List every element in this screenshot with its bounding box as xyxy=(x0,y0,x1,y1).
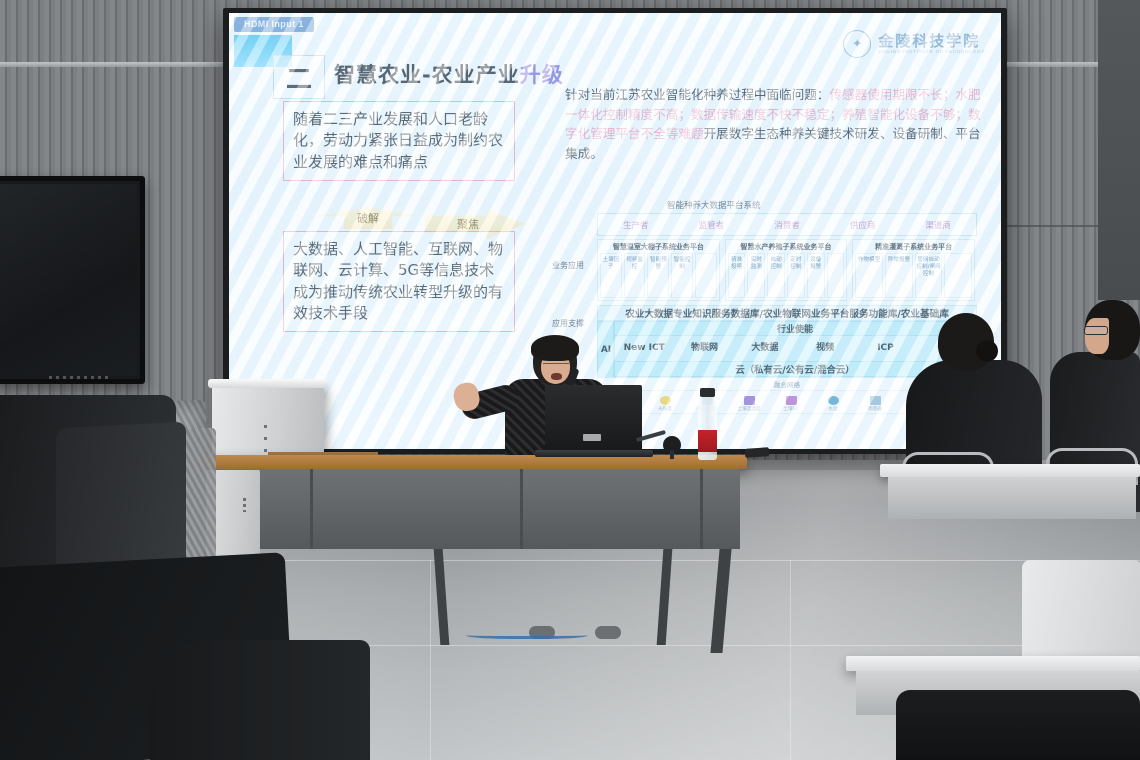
floor-tile-seam xyxy=(790,560,791,760)
stakeholder: 供应商 xyxy=(825,219,901,231)
subplatform-item: 视频监控 xyxy=(624,253,646,298)
rain-gauge-icon xyxy=(870,396,881,405)
student-desk-front xyxy=(888,477,1136,519)
subplatform-item: 实时监测 xyxy=(747,253,765,298)
insight-box-2: 大数据、人工智能、互联网、物联网、云计算、5G等信息技术成为推动传统农业转型升级… xyxy=(283,231,515,332)
foreground-chair xyxy=(896,690,1140,760)
subplatform-title: 智慧温室大棚子系统业务平台 xyxy=(598,240,719,253)
subplatform-item: 定时控制 xyxy=(787,253,805,298)
arrow-up-label: 破解 xyxy=(313,207,423,229)
presentation-slide[interactable]: HDMI Input 1 二 智慧农业-农业产业升级 ✦ 金陵科技学院 JINL… xyxy=(229,13,1001,449)
soil-probe-icon xyxy=(744,396,755,405)
desk-panel-seam xyxy=(520,469,523,549)
classroom-scene: HDMI Input 1 二 智慧农业-农业产业升级 ✦ 金陵科技学院 JINL… xyxy=(0,0,1140,760)
subplatform-item xyxy=(944,253,972,298)
logo-name-en: JINLING INSTITUTE OF TECHNOLOGY xyxy=(878,50,985,55)
sensor-item: 水位 xyxy=(812,396,854,412)
presenter-glasses xyxy=(543,363,569,370)
sensor-label: 土壤EC xyxy=(783,407,798,412)
sensor-label: 水位 xyxy=(828,407,837,412)
university-crest-icon: ✦ xyxy=(843,30,871,58)
slide-title: 智慧农业-农业产业升级 xyxy=(334,59,564,89)
section-number: 二 xyxy=(273,55,325,99)
stakeholder: 渠道商 xyxy=(900,219,976,231)
presenter-mouth xyxy=(551,373,562,380)
subplatform-item xyxy=(695,253,717,298)
layer-label-support: 应用支撑 xyxy=(543,319,593,329)
subplatform-item: 精准投喂 xyxy=(728,253,746,298)
diagram-title: 智能种养大数据平台系统 xyxy=(667,199,761,211)
floor-tile-seam xyxy=(430,560,431,760)
wall-trim-left xyxy=(0,62,232,67)
laptop-base[interactable] xyxy=(535,450,653,457)
student-hair-tie xyxy=(976,340,998,362)
subplatform-greenhouse: 智慧温室大棚子系统业务平台 土壤因子 视频监控 智能预警 智能控制 xyxy=(597,239,720,301)
wall-mounted-display[interactable] xyxy=(0,176,145,384)
sensor-item: 土壤温湿度 xyxy=(728,396,770,412)
ec-probe-icon xyxy=(786,396,797,405)
laptop-logo xyxy=(583,434,601,441)
slide-title-main: 智慧农业-农业产业 xyxy=(334,63,520,87)
subplatform-irrigation: 精准灌溉子系统业务平台 作物模型 异常报警 管网自动控制/闸阀控制 xyxy=(852,239,975,301)
subplatform-item: 自动控制 xyxy=(767,253,785,298)
sensor-item: 雨量器 xyxy=(854,396,896,412)
subplatform-item: 土壤因子 xyxy=(600,253,622,298)
foreground-chair-arm xyxy=(150,640,370,760)
presenter-shoe xyxy=(595,626,621,639)
subplatform-item: 智能控制 xyxy=(671,253,693,298)
technology-row: New ICT 物联网 大数据 视频 ICP GIS xyxy=(613,335,977,362)
subplatform-item: 作物模型 xyxy=(855,253,883,298)
laptop-screen[interactable] xyxy=(545,385,642,452)
layer-label-business: 业务应用 xyxy=(543,261,593,271)
slide-title-highlight: 升级 xyxy=(520,63,564,87)
subplatform-title: 智慧水产养殖子系统业务平台 xyxy=(726,240,847,253)
sensor-label: 光照度 xyxy=(658,407,672,412)
tech-item: 大数据 xyxy=(735,344,795,353)
floor-cable xyxy=(466,630,588,639)
student-desk-top xyxy=(880,464,1140,477)
desk-microphone-stem xyxy=(670,450,674,459)
university-logo: ✦ 金陵科技学院 JINLING INSTITUTE OF TECHNOLOGY xyxy=(843,30,985,58)
bottle-label xyxy=(698,430,717,452)
paragraph-lead: 针对当前江苏农业智能化种养过程中面临问题： xyxy=(565,87,829,102)
stakeholder: 监管者 xyxy=(674,219,750,231)
display-screen xyxy=(0,184,137,376)
subplatform-item: 智能预警 xyxy=(647,253,669,298)
stakeholder: 生产者 xyxy=(598,219,674,231)
subplatform-title: 精准灌溉子系统业务平台 xyxy=(853,240,974,253)
hdmi-input-badge: HDMI Input 1 xyxy=(234,17,314,32)
tech-item: 物联网 xyxy=(674,344,734,353)
subplatform-aquaculture: 智慧水产养殖子系统业务平台 精准投喂 实时监测 自动控制 定时控制 设备报警 xyxy=(725,239,848,301)
lectern-top xyxy=(208,379,328,388)
panel-vent xyxy=(243,498,246,512)
stakeholder-row: 生产者 监管者 消费者 供应商 渠道商 xyxy=(597,213,977,236)
student-face xyxy=(1085,318,1109,354)
desk-panel-seam xyxy=(310,469,313,549)
teacher-desk-top xyxy=(165,455,747,469)
desk-panel-seam xyxy=(700,469,703,549)
subplatform-item: 管网自动控制/闸阀控制 xyxy=(915,253,943,298)
subplatform-row: 智慧温室大棚子系统业务平台 土壤因子 视频监控 智能预警 智能控制 智慧水产养殖… xyxy=(597,239,975,301)
tech-item: New ICT xyxy=(614,344,674,353)
tech-item: 视频 xyxy=(795,344,855,353)
student-glasses xyxy=(1084,326,1108,335)
logo-name-cn: 金陵科技学院 xyxy=(878,34,985,50)
sun-icon xyxy=(660,396,671,405)
smartphone[interactable] xyxy=(745,447,770,458)
bottle-cap xyxy=(700,388,715,397)
stakeholder: 消费者 xyxy=(749,219,825,231)
subplatform-item: 异常报警 xyxy=(885,253,913,298)
display-indicator-leds xyxy=(49,376,109,379)
water-level-icon xyxy=(828,396,839,405)
problem-paragraph: 针对当前江苏农业智能化种养过程中面临问题：传感器使用期限不长；水肥一体化控制精度… xyxy=(565,85,989,163)
database-bar: 农业大数据专业知识服务数据库/农业物联网业务平台服务功能库/农业基础库 xyxy=(597,305,977,321)
industry-enablement-bar: 行业使能 xyxy=(613,321,977,336)
subplatform-item: 设备报警 xyxy=(807,253,825,298)
student-desk-top xyxy=(846,656,1140,671)
wall-corner-right xyxy=(1098,0,1140,300)
sensor-item: 光照度 xyxy=(644,396,686,412)
tech-item: ICP xyxy=(855,344,915,353)
sensor-label: 雨量器 xyxy=(868,407,882,412)
sensor-item: 土壤EC xyxy=(770,396,812,412)
presenter-hair xyxy=(531,335,579,361)
sensor-label: 土壤温湿度 xyxy=(738,407,761,412)
insight-box-1: 随着二三产业发展和人口老龄化，劳动力紧张日益成为制约农业发展的难点和痛点 xyxy=(283,101,515,181)
subplatform-item xyxy=(827,253,845,298)
